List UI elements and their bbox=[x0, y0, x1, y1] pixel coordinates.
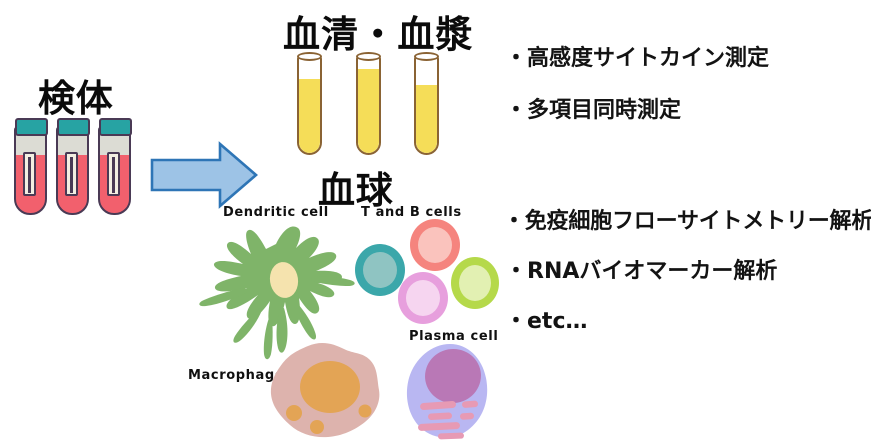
serum-fill bbox=[299, 79, 320, 153]
plasma-cell-icon bbox=[398, 340, 498, 444]
tube-separator-strip bbox=[23, 152, 36, 196]
analysis-item-rna-biomarker: ・RNAバイオマーカー解析 bbox=[505, 253, 777, 285]
tube-rim bbox=[297, 52, 322, 61]
tube-glass bbox=[414, 56, 439, 155]
t-and-b-cells-icon bbox=[352, 218, 502, 333]
diagram-canvas: 検体 血清・血漿 血球 bbox=[0, 0, 871, 444]
serum-tube-3 bbox=[414, 52, 441, 158]
tube-cap bbox=[15, 118, 48, 136]
lymphocyte-teal bbox=[355, 244, 405, 296]
serum-fill bbox=[358, 69, 379, 153]
specimen-title: 検体 bbox=[38, 68, 113, 122]
tube-rim bbox=[414, 52, 439, 61]
analysis-item-multiplex: ・多項目同時測定 bbox=[505, 92, 681, 124]
serum-fill bbox=[416, 85, 437, 153]
tube-cap bbox=[57, 118, 90, 136]
serum-tube-1 bbox=[297, 52, 324, 158]
lymphocyte-green bbox=[451, 257, 499, 309]
tube-rim bbox=[356, 52, 381, 61]
analysis-item-etc: ・etc… bbox=[505, 303, 587, 335]
lymphocyte-salmon bbox=[410, 219, 460, 271]
lymphocyte-violet bbox=[398, 272, 448, 324]
tube-glass bbox=[356, 56, 381, 155]
dendritic-cell-label: Dendritic cell bbox=[223, 205, 329, 220]
macrophage-icon bbox=[262, 340, 392, 444]
specimen-tube-1 bbox=[14, 118, 51, 219]
analysis-item-cytokine: ・高感度サイトカイン測定 bbox=[505, 40, 769, 72]
process-arrow-icon bbox=[150, 140, 260, 210]
serum-tube-2 bbox=[356, 52, 383, 158]
specimen-tube-3 bbox=[98, 118, 135, 219]
serum-plasma-title: 血清・血漿 bbox=[283, 4, 474, 58]
tube-glass bbox=[297, 56, 322, 155]
tube-separator-strip bbox=[107, 152, 120, 196]
analysis-item-flow-cytometry: ・免疫細胞フローサイトメトリー解析 bbox=[503, 203, 871, 235]
tube-separator-strip bbox=[65, 152, 78, 196]
specimen-tube-2 bbox=[56, 118, 93, 219]
tube-cap bbox=[99, 118, 132, 136]
